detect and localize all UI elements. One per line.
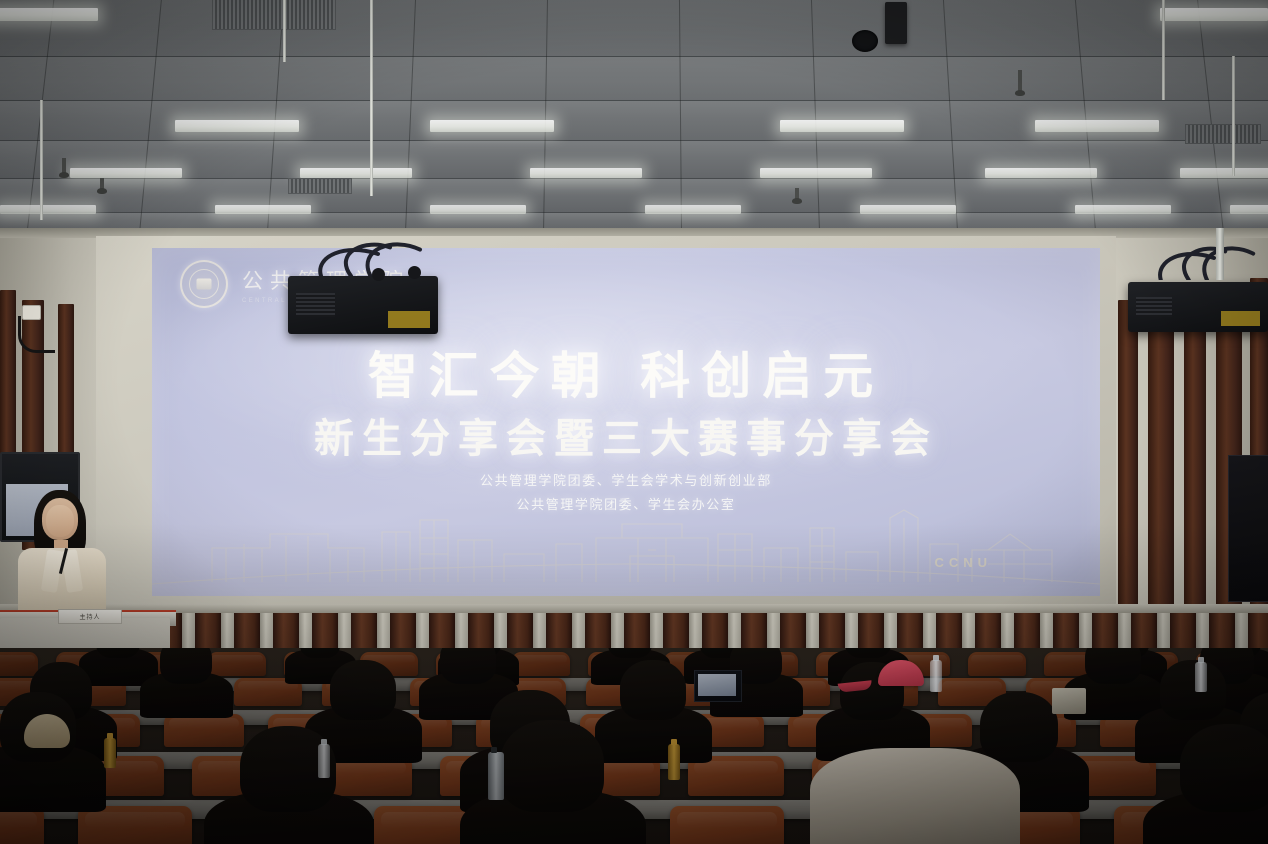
projector-label bbox=[388, 311, 430, 328]
university-seal-icon bbox=[180, 260, 228, 308]
wall-plank bbox=[1184, 286, 1206, 648]
presenter-face bbox=[46, 505, 74, 537]
seat bbox=[512, 652, 570, 676]
seat bbox=[164, 714, 244, 747]
ceiling-light bbox=[1230, 205, 1268, 214]
ceiling-light bbox=[300, 168, 412, 178]
seat bbox=[968, 652, 1026, 676]
person-head bbox=[330, 660, 396, 720]
sprinkler-icon bbox=[62, 158, 66, 174]
projector-mount bbox=[408, 266, 421, 279]
person-head bbox=[1180, 724, 1268, 812]
ceiling-light bbox=[0, 205, 96, 214]
ceiling-rod bbox=[283, 0, 286, 62]
person-head bbox=[1085, 648, 1141, 684]
ceiling-light bbox=[430, 120, 554, 132]
wall-cable bbox=[18, 316, 55, 353]
podium-nameplate: 主持人 bbox=[58, 609, 122, 624]
laptop-screen bbox=[698, 674, 736, 696]
snack-box bbox=[1052, 688, 1086, 714]
slide-title-main: 智汇今朝 科创启元 bbox=[152, 336, 1100, 408]
ceiling-light bbox=[430, 205, 526, 214]
ceiling-seam bbox=[0, 140, 1268, 141]
ceiling-vent bbox=[288, 178, 352, 194]
projector-vent bbox=[1136, 297, 1172, 317]
ceiling bbox=[0, 0, 1268, 232]
projector-label bbox=[1221, 311, 1260, 326]
ceiling-camera bbox=[885, 2, 907, 44]
person-head bbox=[980, 692, 1058, 762]
ceiling-light bbox=[1035, 120, 1159, 132]
person-head bbox=[1160, 660, 1226, 720]
ceiling-light bbox=[645, 205, 741, 214]
ceiling-light bbox=[70, 168, 182, 178]
seat bbox=[208, 652, 266, 676]
open-laptop bbox=[694, 670, 742, 702]
ceiling-rod bbox=[40, 100, 43, 220]
sprinkler-icon bbox=[795, 188, 799, 200]
ceiling-light bbox=[1160, 8, 1268, 21]
seat bbox=[0, 806, 44, 844]
person-head bbox=[160, 648, 212, 684]
steel-flask bbox=[488, 752, 504, 800]
ceiling-rod bbox=[1162, 0, 1165, 100]
ceiling-light bbox=[175, 120, 299, 132]
ceiling-seam bbox=[0, 100, 1268, 101]
seat bbox=[0, 652, 38, 676]
ceiling-light bbox=[860, 205, 956, 214]
sprinkler-icon bbox=[100, 178, 104, 190]
projector-cables bbox=[1130, 236, 1268, 280]
ceiling-light bbox=[215, 205, 311, 214]
seat bbox=[670, 806, 784, 844]
amber-bottle bbox=[104, 738, 116, 768]
ceiling-rod bbox=[370, 0, 373, 196]
audience-seating bbox=[0, 648, 1268, 844]
water-bottle bbox=[1195, 662, 1207, 692]
projector-mount bbox=[372, 268, 385, 281]
ceiling-light bbox=[1075, 205, 1171, 214]
ceiling-light bbox=[1180, 168, 1268, 178]
wall-speaker bbox=[1228, 455, 1268, 602]
ceiling-light bbox=[0, 8, 98, 21]
ceiling-seam bbox=[0, 178, 1268, 179]
person-head bbox=[620, 660, 686, 720]
ceiling-light bbox=[760, 168, 872, 178]
slat-wall-trim bbox=[0, 604, 1268, 613]
wall-plank bbox=[1148, 292, 1174, 648]
ceiling-projector-center bbox=[288, 276, 438, 334]
projector-mount-rod bbox=[1216, 228, 1224, 280]
ccnu-footer-mark: CCNU bbox=[934, 555, 992, 570]
ceiling-projector-right bbox=[1128, 282, 1268, 332]
ceiling-light bbox=[530, 168, 642, 178]
water-bottle bbox=[318, 744, 330, 778]
ceiling-vent bbox=[1185, 124, 1261, 144]
cream-puffer-jacket bbox=[810, 748, 1020, 844]
ceiling-light bbox=[780, 120, 904, 132]
organizer-line-1: 公共管理学院团委、学生会学术与创新创业部 bbox=[152, 470, 1100, 489]
camera-lens-icon bbox=[852, 30, 878, 52]
ceiling-band bbox=[0, 56, 1268, 100]
campus-skyline-graphic bbox=[152, 504, 1100, 590]
sprinkler-icon bbox=[1018, 70, 1022, 92]
water-bottle bbox=[930, 660, 942, 692]
amber-bottle bbox=[668, 744, 680, 780]
ceiling-light bbox=[985, 168, 1097, 178]
projector-vent bbox=[296, 293, 335, 316]
seat bbox=[78, 806, 192, 844]
wall-plank bbox=[1118, 300, 1138, 648]
lecture-hall-photo: 讲台讲课 公共管理学院 CENTRAL CHINA NORMAL UNIVERS… bbox=[0, 0, 1268, 844]
person-head bbox=[440, 648, 496, 684]
slide-title-sub: 新生分享会暨三大赛事分享会 bbox=[152, 406, 1100, 464]
ceiling-vent bbox=[212, 0, 336, 30]
ceiling-rod bbox=[1232, 56, 1235, 176]
person-head bbox=[500, 720, 604, 812]
ceiling-seam bbox=[0, 56, 1268, 57]
